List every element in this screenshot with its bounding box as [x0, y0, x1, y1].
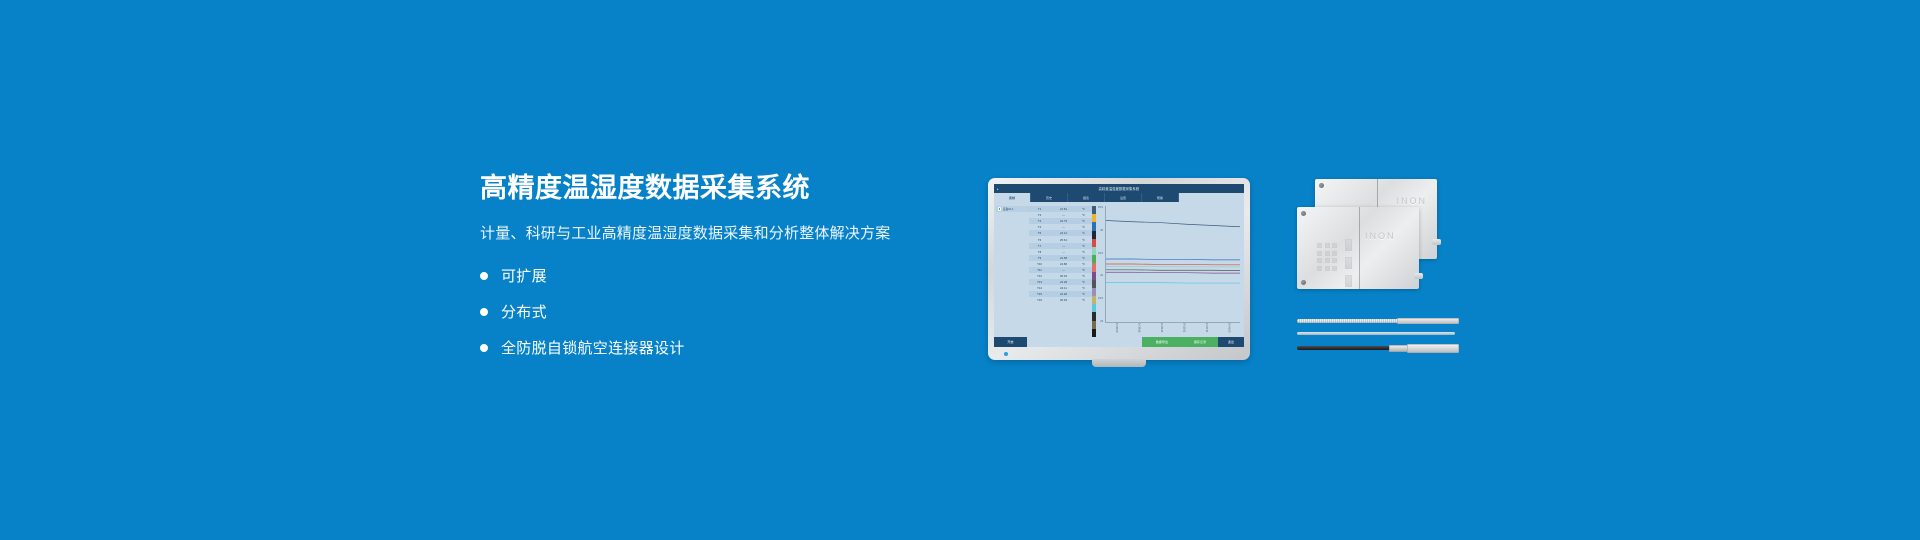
- hero-copy: 高精度温湿度数据采集系统 计量、科研与工业高精度温湿度数据采集和分析整体解决方案…: [480, 172, 1000, 373]
- chart-x-tick: 14:43:00: [1227, 323, 1230, 335]
- channel-unit: ℃: [1077, 225, 1090, 229]
- feature-list: 可扩展 分布式 全防脱自锁航空连接器设计: [480, 265, 1000, 358]
- tab-settings[interactable]: 设置: [1105, 193, 1142, 202]
- chart-y-tick: 25.5: [1098, 206, 1103, 209]
- chart-x-tick: 14:05:20: [1115, 323, 1118, 335]
- device-tree-panel: 设备01-1: [996, 204, 1029, 337]
- channel-name: T4: [1029, 225, 1050, 229]
- channel-name: T11: [1029, 268, 1050, 272]
- channel-value: 24.12: [1050, 231, 1077, 235]
- chart-y-tick: 24: [1100, 274, 1103, 277]
- chart-x-axis-ticks: 14:05:2014:19:5514:25:1214:32:0114:37:11…: [1105, 323, 1240, 335]
- app-tabbar: 实时 历史 报表 设置 帮助: [994, 193, 1244, 202]
- channel-value: 21.81: [1050, 207, 1077, 211]
- monitor-inner-frame: ▸ 高精度温湿度数据采集系统 实时 历史 报表 设置 帮助: [994, 184, 1244, 347]
- channel-unit: ℃: [1077, 231, 1090, 235]
- channel-unit: ℃: [1077, 238, 1090, 242]
- channel-name: T6: [1029, 238, 1050, 242]
- port-cell: [1332, 266, 1337, 271]
- channel-unit: ℃: [1077, 219, 1090, 223]
- status-ok-icon: [998, 207, 1001, 210]
- port-cell: [1317, 266, 1322, 271]
- channel-unit: ℃: [1077, 262, 1090, 266]
- monitor-stand: [1092, 359, 1146, 367]
- feature-label: 分布式: [501, 301, 547, 322]
- trend-chart: 25.52524.52423.523 14:05:2014:19:5514:25…: [1096, 204, 1242, 337]
- channel-name: T7: [1029, 244, 1050, 248]
- channel-name: T8: [1029, 250, 1050, 254]
- channel-unit: ℃: [1077, 298, 1090, 302]
- chart-series-line: [1106, 259, 1240, 260]
- list-item: 全防脱自锁航空连接器设计: [480, 337, 1000, 358]
- port-cell: [1317, 258, 1322, 263]
- feature-label: 全防脱自锁航空连接器设计: [501, 337, 685, 358]
- app-statusbar: 开始 数据导出 保存记录 退出: [994, 337, 1244, 347]
- channel-name: T9: [1029, 256, 1050, 260]
- channel-unit: ℃: [1077, 268, 1090, 272]
- channel-name: T1: [1029, 207, 1050, 211]
- connector-icon: [1345, 275, 1352, 287]
- connector-icon: [1345, 257, 1352, 269]
- application-screen: ▸ 高精度温湿度数据采集系统 实时 历史 报表 设置 帮助: [994, 184, 1244, 347]
- channel-unit: ℃: [1077, 213, 1090, 217]
- port-cell: [1317, 251, 1322, 256]
- chart-y-tick: 25: [1100, 229, 1103, 232]
- chart-series-line: [1106, 272, 1240, 273]
- channel-value: ---: [1050, 244, 1077, 248]
- channel-unit: ℃: [1077, 256, 1090, 260]
- device-label: 设备01-1: [1003, 207, 1014, 211]
- power-led-icon: [1004, 352, 1008, 356]
- list-item: 分布式: [480, 301, 1000, 322]
- chart-x-tick: 14:25:12: [1160, 323, 1163, 335]
- module-connector-bank: [1345, 239, 1352, 287]
- channel-value: ---: [1050, 250, 1077, 254]
- channel-unit: ℃: [1077, 207, 1090, 211]
- channel-value: 24.28: [1050, 280, 1077, 284]
- channel-unit: ℃: [1077, 244, 1090, 248]
- chart-plot-area: [1105, 206, 1240, 323]
- start-button[interactable]: 开始: [994, 337, 1027, 347]
- tabbar-filler: [1179, 193, 1244, 202]
- channel-value: 25.04: [1050, 274, 1077, 278]
- channel-name: T14: [1029, 286, 1050, 290]
- channel-name: T3: [1029, 219, 1050, 223]
- acquisition-module-front: INON: [1297, 207, 1419, 289]
- port-cell: [1325, 243, 1330, 248]
- module-mounting-tab: [1432, 239, 1441, 245]
- channel-unit: ℃: [1077, 250, 1090, 254]
- tab-realtime[interactable]: 实时: [994, 193, 1031, 202]
- channel-unit: ℃: [1077, 280, 1090, 284]
- channel-value: 25.94: [1050, 298, 1077, 302]
- channel-value: ---: [1050, 213, 1077, 217]
- app-window-title: 高精度温湿度数据采集系统: [994, 186, 1244, 191]
- chart-y-tick: 23: [1100, 320, 1103, 323]
- tab-report[interactable]: 报表: [1068, 193, 1105, 202]
- tab-help[interactable]: 帮助: [1142, 193, 1179, 202]
- module-mounting-tab: [1414, 273, 1423, 279]
- channel-value: 25.61: [1050, 238, 1077, 242]
- module-brand-label: INON: [1365, 231, 1396, 241]
- channel-value: 24.79: [1050, 219, 1077, 223]
- statusbar-spacer: [1027, 337, 1142, 347]
- connector-icon: [1345, 239, 1352, 251]
- chart-series-line: [1106, 221, 1240, 227]
- port-cell: [1325, 251, 1330, 256]
- port-cell: [1325, 266, 1330, 271]
- port-cell: [1332, 258, 1337, 263]
- channel-name: T12: [1029, 274, 1050, 278]
- chart-lines: [1106, 206, 1240, 322]
- exit-button[interactable]: 退出: [1218, 337, 1244, 347]
- channel-value: 24.86: [1050, 262, 1077, 266]
- page-title: 高精度温湿度数据采集系统: [480, 172, 1000, 204]
- channel-name: T13: [1029, 280, 1050, 284]
- chart-y-tick: 23.5: [1098, 297, 1103, 300]
- hero-banner: 高精度温湿度数据采集系统 计量、科研与工业高精度温湿度数据采集和分析整体解决方案…: [0, 0, 1920, 540]
- chart-x-tick: 14:32:01: [1182, 323, 1185, 335]
- channel-value: ---: [1050, 268, 1077, 272]
- channel-name: T16: [1029, 298, 1050, 302]
- module-brand-label: INON: [1397, 196, 1428, 206]
- channel-value: ---: [1050, 225, 1077, 229]
- chart-y-axis-ticks: 25.52524.52423.523: [1096, 206, 1104, 323]
- channel-unit: ℃: [1077, 274, 1090, 278]
- channel-value: 24.90: [1050, 292, 1077, 296]
- product-monitor: ▸ 高精度温湿度数据采集系统 实时 历史 报表 设置 帮助: [988, 178, 1250, 360]
- monitor-bezel: ▸ 高精度温湿度数据采集系统 实时 历史 报表 设置 帮助: [988, 178, 1250, 360]
- tab-history[interactable]: 历史: [1031, 193, 1068, 202]
- module-screw-icon: [1301, 280, 1306, 285]
- bullet-dot-icon: [480, 272, 488, 280]
- hardware-modules: INON INON: [1297, 175, 1457, 315]
- port-cell: [1325, 258, 1330, 263]
- list-item: 可扩展: [480, 265, 1000, 286]
- chart-series-line: [1106, 270, 1240, 271]
- channel-unit: ℃: [1077, 292, 1090, 296]
- channel-unit: ℃: [1077, 286, 1090, 290]
- channel-name: T2: [1029, 213, 1050, 217]
- feature-label: 可扩展: [501, 265, 547, 286]
- export-data-button[interactable]: 数据导出: [1142, 337, 1182, 347]
- device-tree-item[interactable]: 设备01-1: [996, 206, 1029, 212]
- chart-x-tick: 14:37:11: [1205, 323, 1208, 335]
- channel-name: T5: [1029, 231, 1050, 235]
- bullet-dot-icon: [480, 308, 488, 316]
- channel-table[interactable]: T1 21.81 ℃ T2 --- ℃ T3 24.79: [1029, 204, 1092, 337]
- channel-value: 24.58: [1050, 256, 1077, 260]
- app-titlebar: ▸ 高精度温湿度数据采集系统: [994, 184, 1244, 193]
- table-row[interactable]: T16 25.94 ℃: [1029, 297, 1092, 303]
- chart-y-tick: 24.5: [1098, 252, 1103, 255]
- sensor-probes: [1297, 318, 1462, 360]
- module-screw-icon: [1319, 183, 1324, 188]
- app-workspace: 设备01-1 T1 21.81 ℃ T2 ---: [994, 202, 1244, 337]
- port-cell: [1332, 251, 1337, 256]
- page-subtitle: 计量、科研与工业高精度温湿度数据采集和分析整体解决方案: [480, 223, 1000, 244]
- module-screw-icon: [1301, 211, 1306, 216]
- module-seam: [1359, 207, 1360, 289]
- module-port-grid: [1317, 243, 1337, 271]
- channel-value: 24.11: [1050, 286, 1077, 290]
- chart-x-tick: 14:19:55: [1137, 323, 1140, 335]
- chart-series-line: [1106, 264, 1240, 265]
- bullet-dot-icon: [480, 344, 488, 352]
- channel-name: T10: [1029, 262, 1050, 266]
- channel-name: T15: [1029, 292, 1050, 296]
- save-record-button[interactable]: 保存记录: [1182, 337, 1218, 347]
- port-cell: [1332, 243, 1337, 248]
- port-cell: [1317, 243, 1322, 248]
